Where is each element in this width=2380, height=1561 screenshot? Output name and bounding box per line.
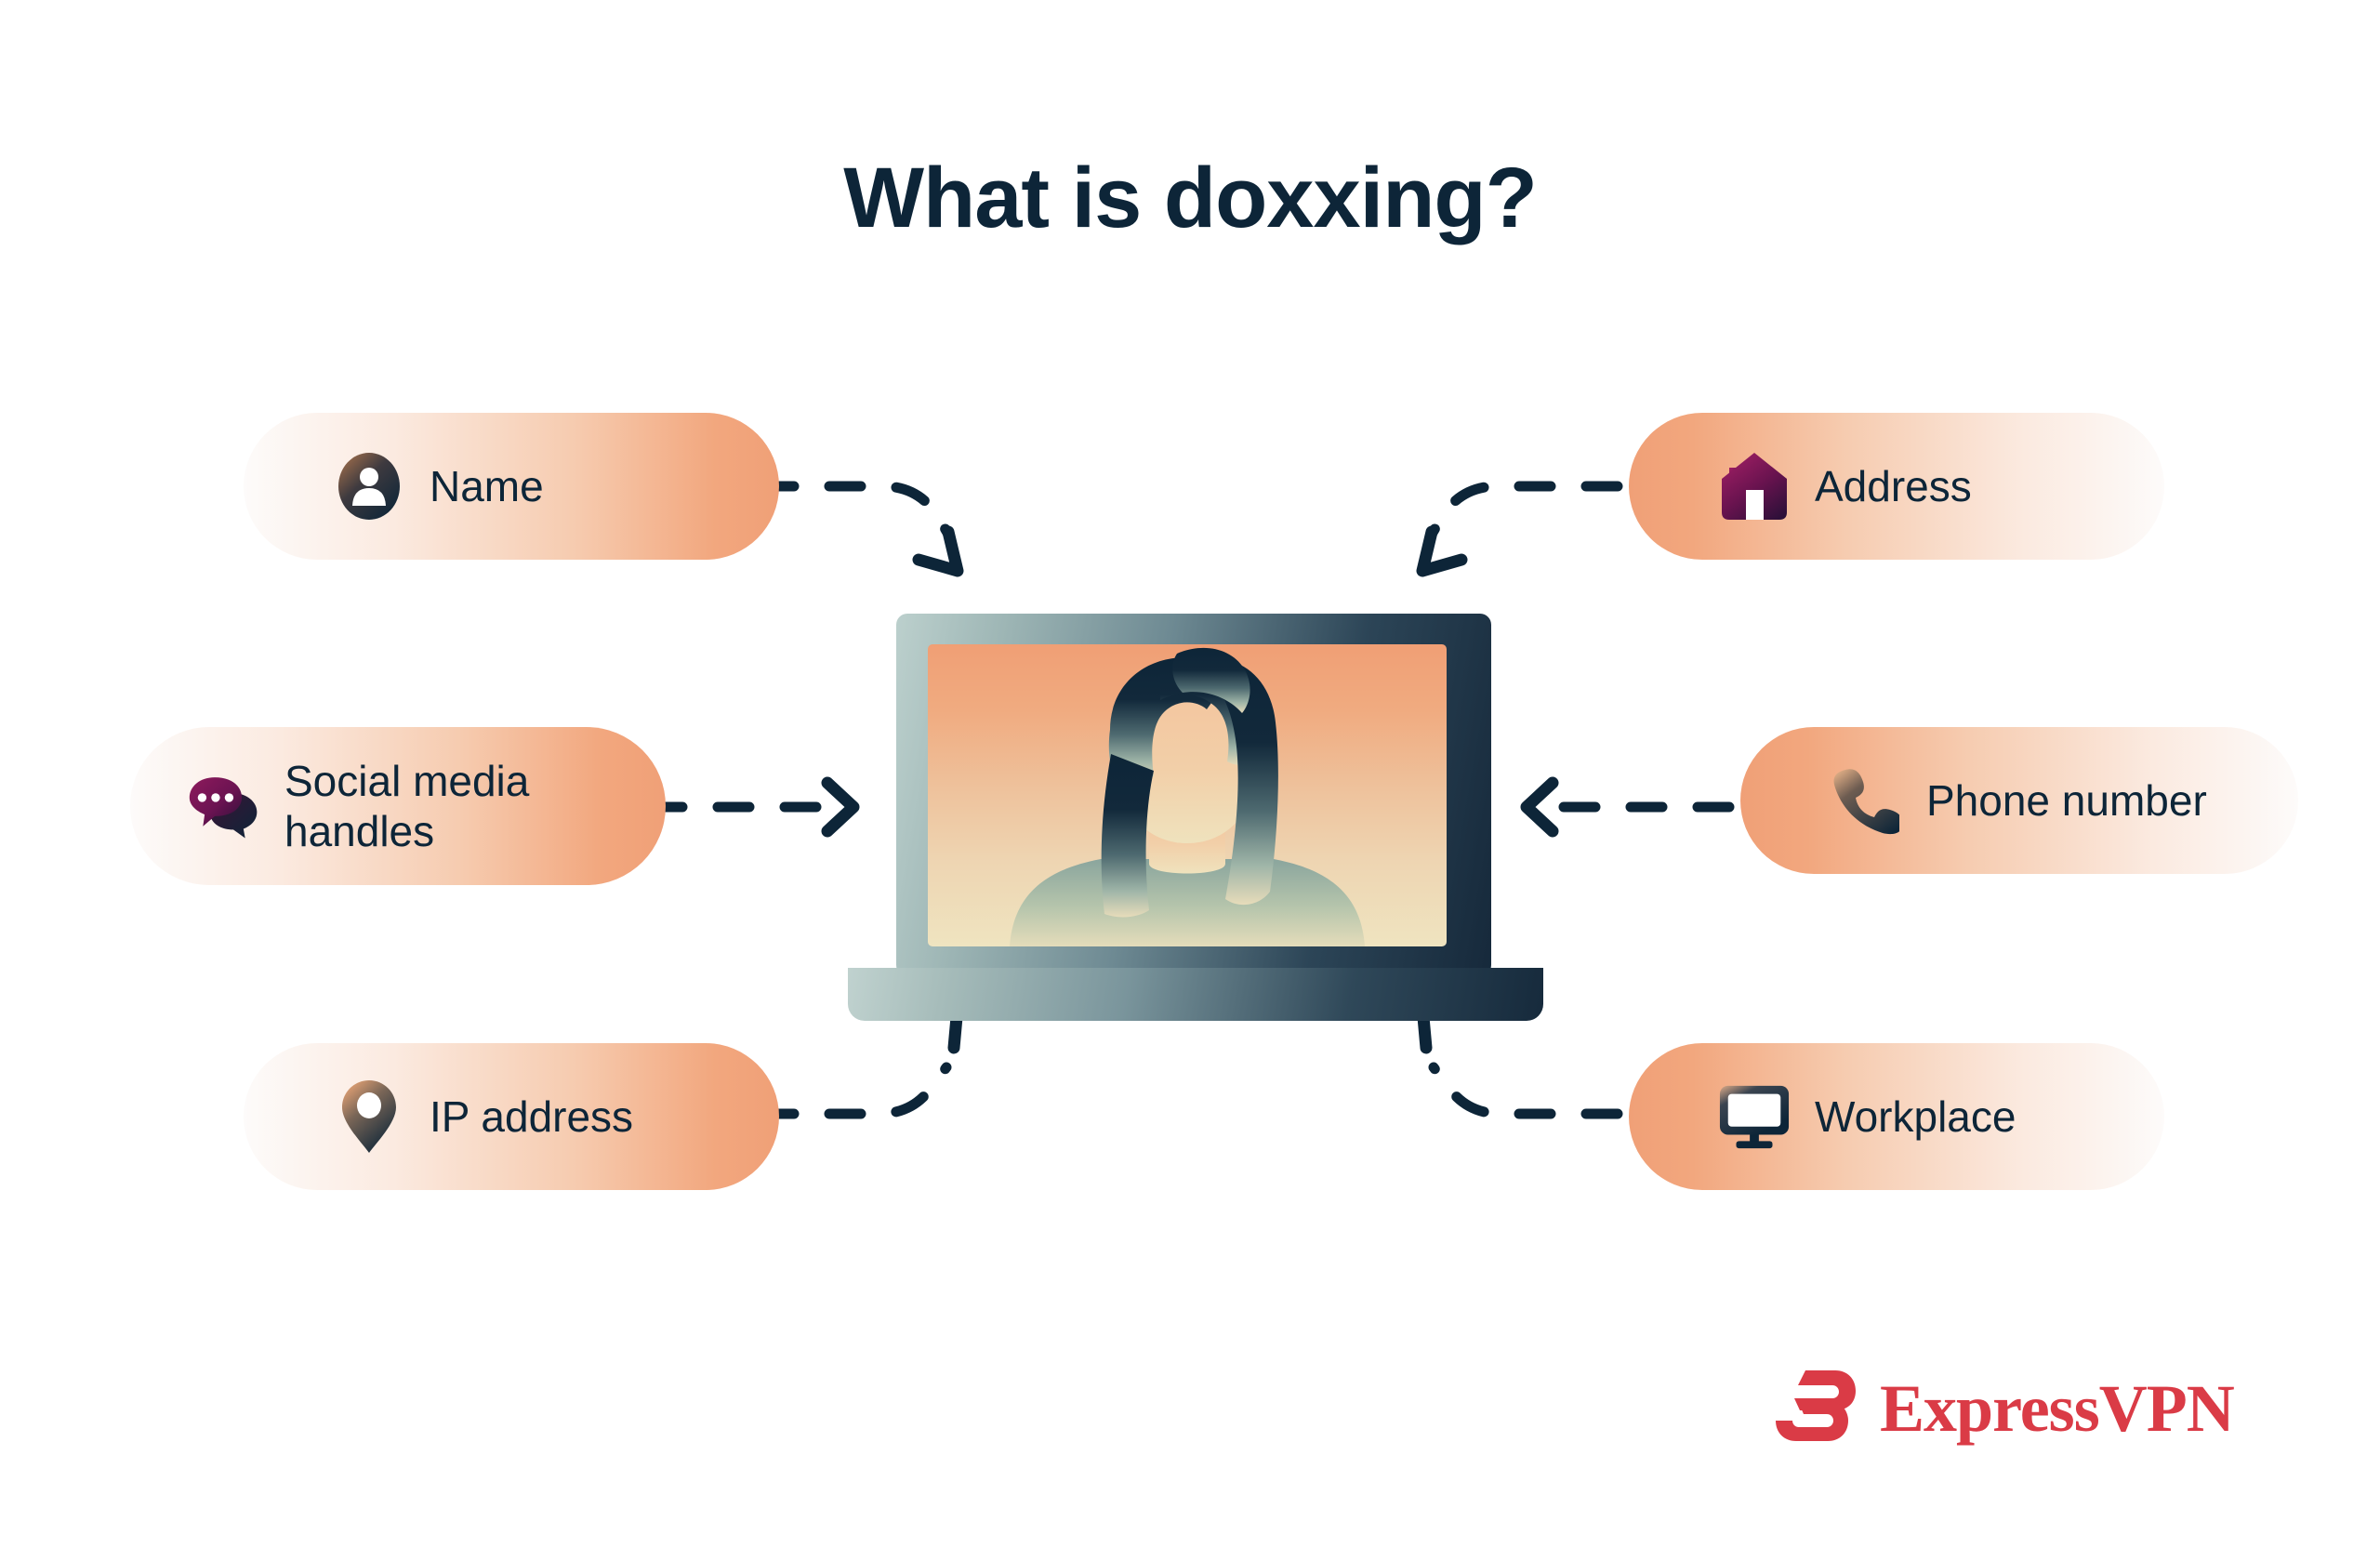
pill-ip-address[interactable]: IP address: [244, 1043, 779, 1190]
phone-handset-icon: [1830, 764, 1902, 837]
pill-address[interactable]: Address: [1629, 413, 2164, 560]
person-silhouette: [928, 644, 1447, 946]
pill-workplace[interactable]: Workplace: [1629, 1043, 2164, 1190]
arrow-name-to-laptop: [762, 486, 958, 571]
pill-name[interactable]: Name: [244, 413, 779, 560]
laptop-base: [848, 968, 1543, 1021]
pill-label-name: Name: [430, 461, 544, 511]
user-avatar-icon: [333, 450, 405, 523]
laptop-with-person-illustration: [848, 614, 1543, 1023]
expressvpn-wordmark: ExpressVPN: [1880, 1375, 2234, 1442]
pill-label-address: Address: [1815, 461, 1972, 511]
arrow-workplace-to-laptop: [1422, 1007, 1618, 1114]
infographic-canvas: What is doxxing? .dash { fill: none; str…: [0, 0, 2380, 1561]
house-icon: [1718, 450, 1791, 523]
pill-label-ip-address: IP address: [430, 1091, 633, 1142]
page-title: What is doxxing?: [0, 152, 2380, 245]
map-pin-icon: [333, 1080, 405, 1153]
pill-social-media-handles[interactable]: Social media handles: [130, 727, 666, 885]
pill-phone-number[interactable]: Phone number: [1740, 727, 2298, 874]
arrow-social-to-laptop: [651, 783, 853, 831]
pill-label-phone-number: Phone number: [1926, 775, 2207, 826]
monitor-icon: [1718, 1080, 1791, 1153]
expressvpn-logo[interactable]: ExpressVPN: [1774, 1363, 2234, 1453]
laptop-screen: [928, 644, 1447, 946]
expressvpn-e-mark-icon: [1774, 1363, 1859, 1453]
arrow-phone-to-laptop: [1527, 783, 1729, 831]
arrow-address-to-laptop: [1422, 486, 1618, 571]
pill-label-social-media-handles: Social media handles: [284, 756, 529, 857]
pill-label-workplace: Workplace: [1815, 1091, 2016, 1142]
arrow-ip-to-laptop: [762, 1007, 958, 1114]
chat-bubbles-icon: [188, 770, 260, 842]
